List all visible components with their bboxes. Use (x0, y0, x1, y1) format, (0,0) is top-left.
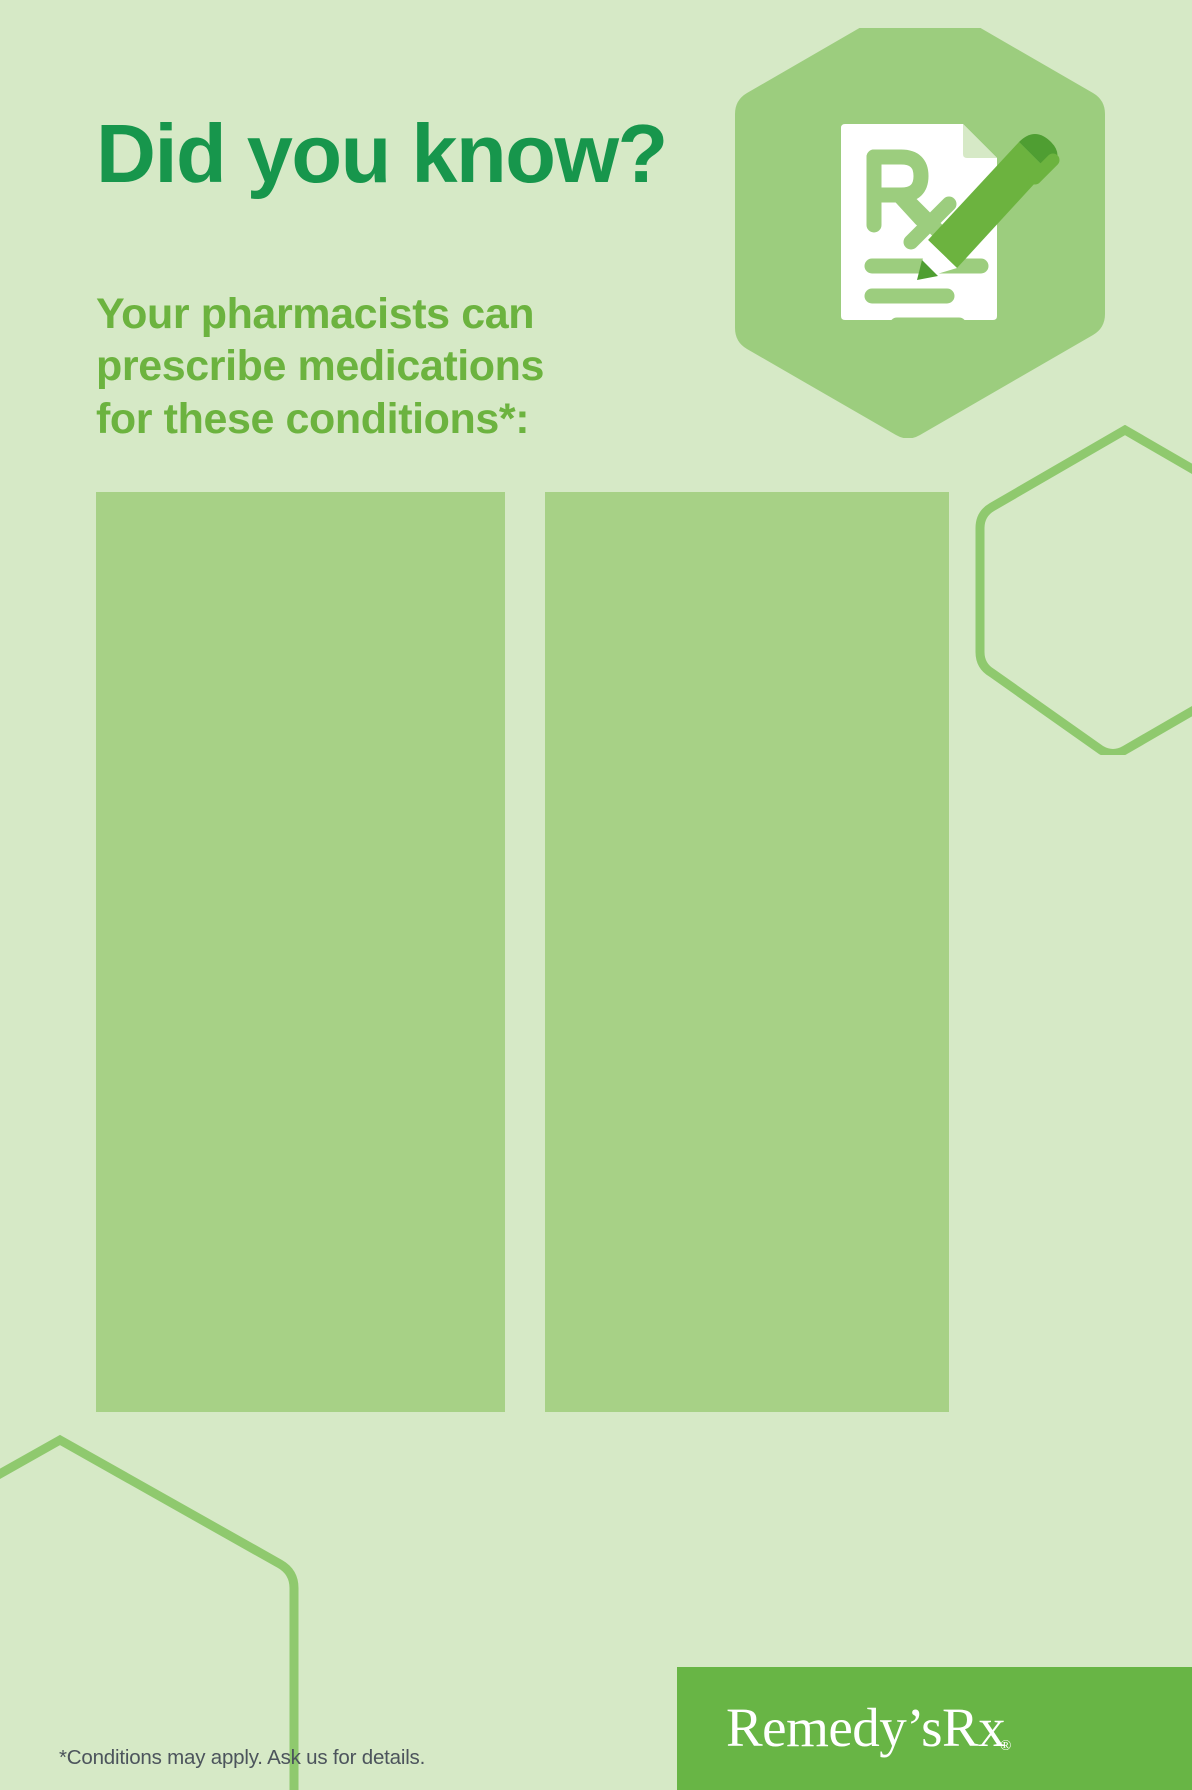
subheading-line-3: for these conditions*: (96, 393, 544, 445)
poster-canvas: Did you know? Your pharmacists can presc… (0, 0, 1192, 1790)
hexagon-outline-shape (980, 430, 1192, 754)
subheading-line-2: prescribe medications (96, 340, 544, 392)
conditions-panel-left (96, 492, 505, 1412)
subheading: Your pharmacists can prescribe medicatio… (96, 288, 544, 445)
subheading-line-1: Your pharmacists can (96, 288, 544, 340)
hexagon-outline-shape (0, 1440, 294, 1790)
page-title: Did you know? (96, 112, 667, 195)
prescription-document-icon (841, 124, 997, 325)
registered-trademark-icon: ® (1000, 1738, 1011, 1755)
rx-symbol-icon (874, 157, 949, 242)
hexagon-shape (735, 28, 1105, 438)
hexagon-decoration-top-right (735, 28, 1105, 438)
pencil-icon (917, 134, 1058, 280)
hexagon-outline-bottom-left (0, 1432, 310, 1790)
footnote-disclaimer: *Conditions may apply. Ask us for detail… (59, 1746, 425, 1771)
conditions-panel-right (545, 492, 949, 1412)
brand-logo-wordmark: Remedy’sRx (726, 1700, 1026, 1755)
document-text-lines-icon (872, 266, 981, 325)
hexagon-outline-right (975, 425, 1192, 755)
